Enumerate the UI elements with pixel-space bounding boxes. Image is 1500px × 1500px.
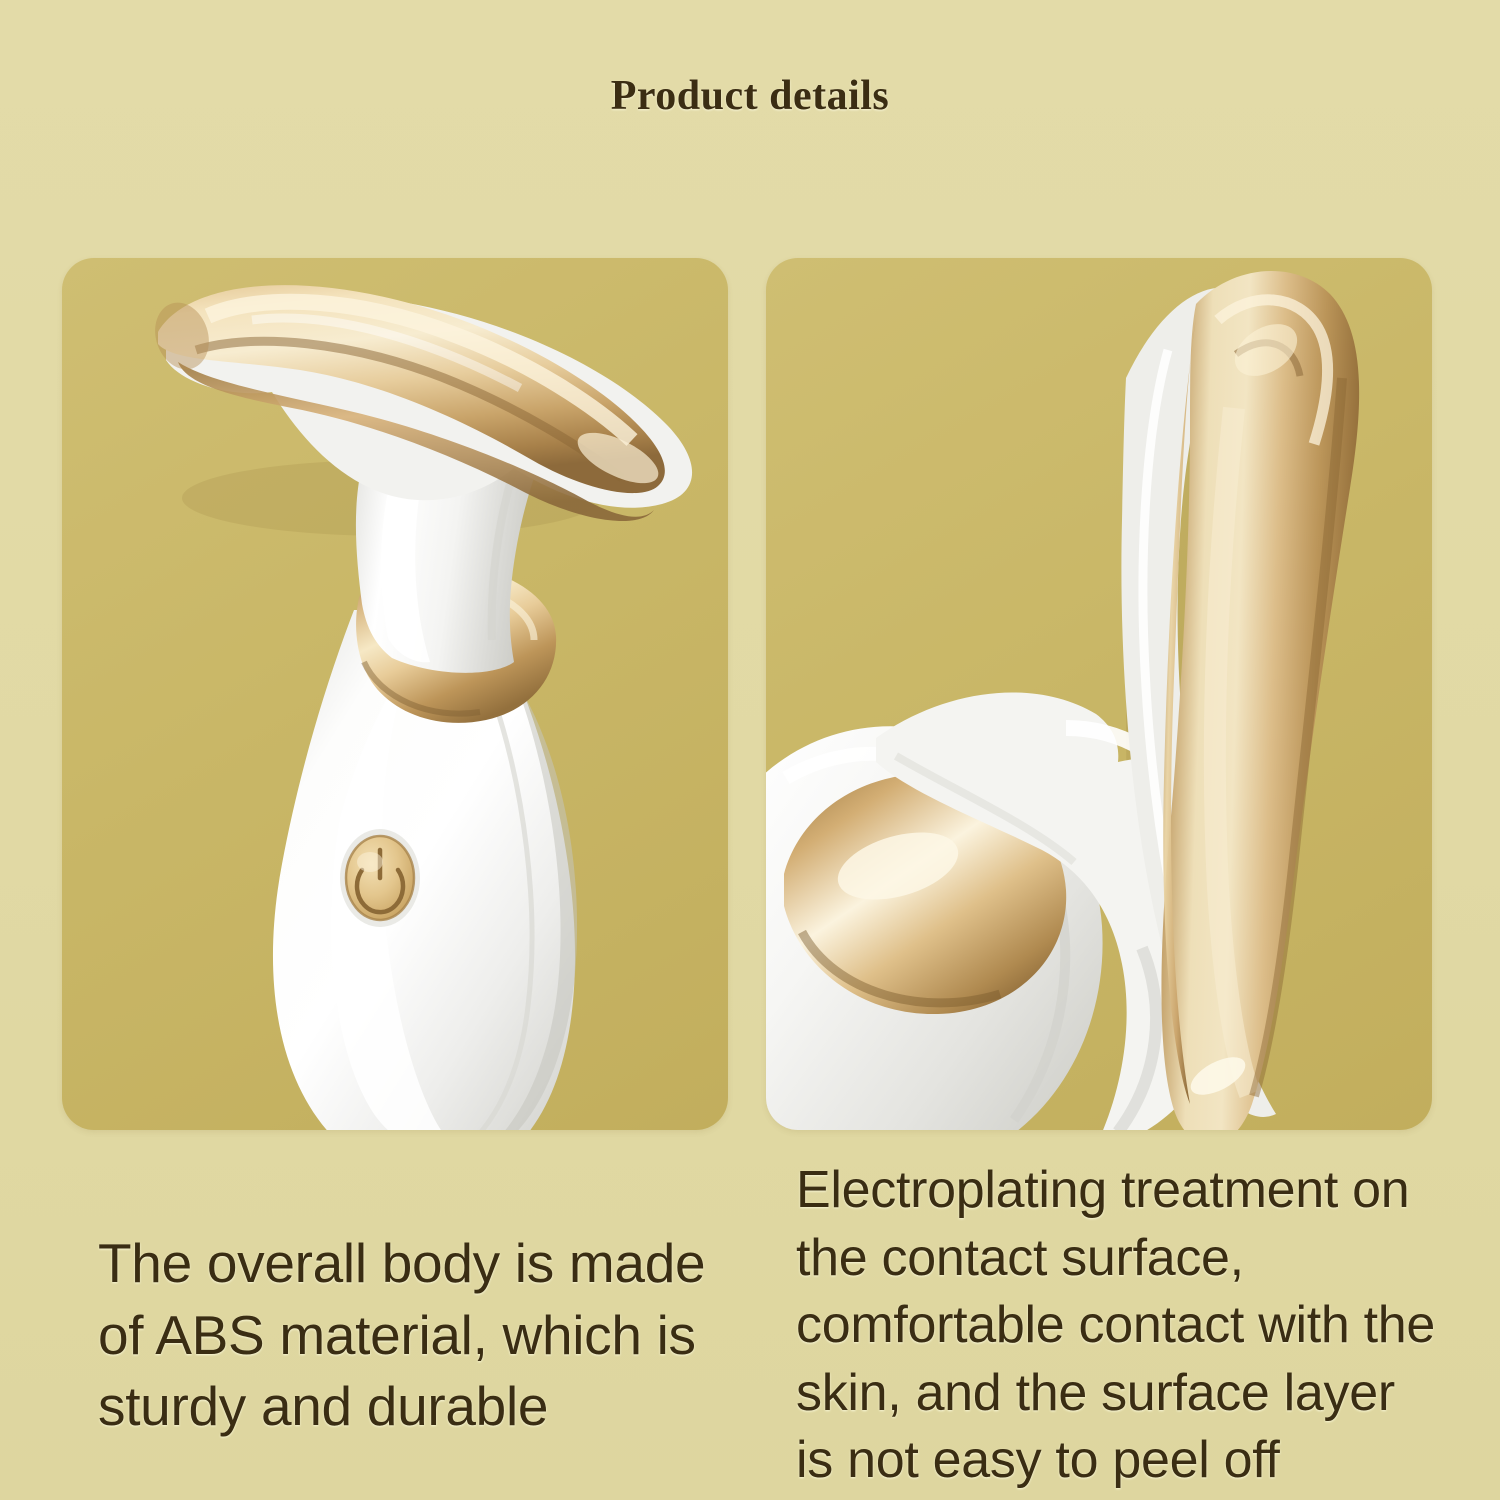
device-illustration-front-view	[62, 258, 728, 1130]
product-image-panel-right	[766, 258, 1432, 1130]
page-title: Product details	[0, 72, 1500, 120]
gold-contact-head	[1161, 271, 1359, 1130]
caption-right: Electroplating treatment on the contact …	[796, 1157, 1444, 1495]
device-illustration-side-view	[766, 258, 1432, 1130]
product-details-page: Product details	[0, 0, 1500, 1500]
product-image-panel-left	[62, 258, 728, 1130]
caption-left: The overall body is made of ABS material…	[98, 1228, 758, 1443]
power-button	[340, 829, 420, 927]
